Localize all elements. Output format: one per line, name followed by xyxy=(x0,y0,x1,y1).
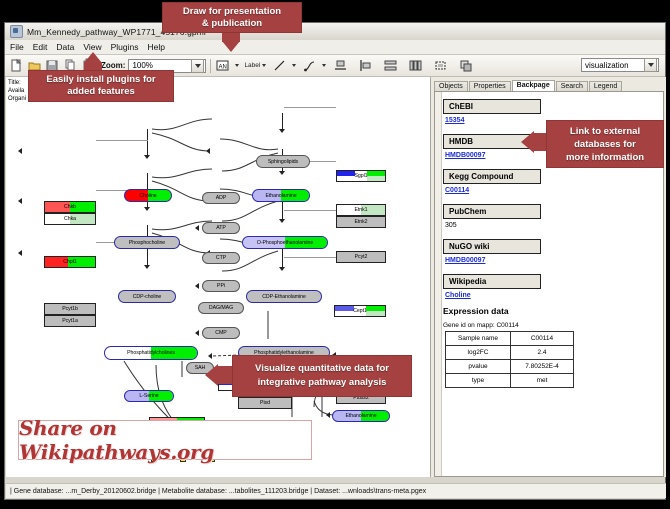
annotation-draw-line2: & publication xyxy=(202,18,262,30)
node-etnk2[interactable]: Etnk2 xyxy=(336,216,386,228)
db-header-chebi: ChEBI xyxy=(443,99,541,114)
annotation-visualize-line2: integrative pathway analysis xyxy=(258,376,387,390)
tab-properties[interactable]: Properties xyxy=(469,81,511,91)
node-chka[interactable]: Chka xyxy=(44,213,96,225)
node-ppi[interactable]: PPi xyxy=(202,280,240,292)
node-label: Pcyt2 xyxy=(355,254,368,260)
node-label: PPi xyxy=(217,283,225,289)
node-cdp-choline[interactable]: CDP-choline xyxy=(118,290,176,303)
node-label: O-Phosphoethanolamine xyxy=(257,240,313,246)
info-title-label: Title: xyxy=(8,79,26,87)
annotation-link-line1: Link to external xyxy=(570,125,640,138)
line-icon[interactable] xyxy=(272,58,287,73)
node-label: Etnk2 xyxy=(354,219,367,225)
annotation-link-line3: more information xyxy=(566,151,644,164)
node-label: Etnk1 xyxy=(354,207,367,213)
arrow-icon xyxy=(18,198,22,204)
node-chpt1[interactable]: Chpt1 xyxy=(44,256,96,268)
annotation-share: Share on Wikipathways.org xyxy=(18,420,312,460)
db-header-wikipedia: Wikipedia xyxy=(443,274,541,289)
title-bar: Mm_Kennedy_pathway_WP1771_45176.gpml xyxy=(5,23,665,41)
label-dropdown-label: Label xyxy=(244,62,260,69)
annotation-draw: Draw for presentation & publication xyxy=(162,2,302,33)
arrow-icon xyxy=(195,225,199,231)
zoom-label: Zoom: xyxy=(101,61,125,70)
annotation-link-arrow xyxy=(521,131,534,153)
chevron-down-icon[interactable] xyxy=(191,59,204,73)
node-sgpl1[interactable]: Sgpl1 xyxy=(336,170,386,182)
arrow-icon xyxy=(18,250,22,256)
node-ethanolamine-2[interactable]: Ethanolamine xyxy=(332,410,390,422)
arrow-icon xyxy=(195,330,199,336)
arrow-icon xyxy=(206,148,210,154)
db-header-nugo-wiki: NuGO wiki xyxy=(443,239,541,254)
arrow-icon xyxy=(326,412,330,418)
visualization-value: visualization xyxy=(585,61,629,70)
node-atp[interactable]: ATP xyxy=(202,222,240,234)
node-label: ATP xyxy=(216,225,226,231)
node-label: Chkb xyxy=(64,204,76,210)
node-label: Ethanolamine xyxy=(265,193,296,199)
visualization-combobox[interactable]: visualization xyxy=(581,58,659,72)
tab-legend[interactable]: Legend xyxy=(589,81,622,91)
menu-item-help[interactable]: Help xyxy=(148,42,165,52)
arrow-icon xyxy=(144,207,150,211)
annotation-plugins-line2: added features xyxy=(67,86,135,98)
expression-table: Sample name C00114 log2FC 2.4 pvalue 7.8… xyxy=(445,331,574,388)
node-label: Chpt1 xyxy=(63,259,77,265)
data-overlay-bottomright xyxy=(367,176,385,181)
connector-line xyxy=(284,107,336,108)
annotation-draw-arrow xyxy=(222,41,240,52)
node-label: Chka xyxy=(64,216,76,222)
annotation-share-text: Share on Wikipathways.org xyxy=(19,416,311,464)
node-sphingolipids[interactable]: Sphingolipids xyxy=(256,155,310,168)
toolbar-separator xyxy=(210,59,211,73)
order-icon[interactable] xyxy=(458,58,473,73)
table-row: pvalue 7.80252E-4 xyxy=(446,360,574,374)
arrow-icon xyxy=(279,171,285,175)
node-ethanolamine[interactable]: Ethanolamine xyxy=(252,189,310,202)
text-box-icon[interactable]: AN xyxy=(215,58,230,73)
node-label: CMP xyxy=(215,330,226,336)
node-label: Ethanolamine xyxy=(345,413,376,419)
data-overlay-topleft xyxy=(335,306,354,311)
annotation-plugins-arrow xyxy=(84,52,102,63)
menu-item-data[interactable]: Data xyxy=(56,42,74,52)
table-cell-key: Sample name xyxy=(446,332,511,346)
table-cell-value: 2.4 xyxy=(511,346,574,360)
node-choline-top[interactable]: Choline xyxy=(124,189,172,202)
node-pcyt1a[interactable]: Pcyt1a xyxy=(44,315,96,327)
panel-tabs: Objects Properties Backpage Search Legen… xyxy=(431,77,666,91)
connector-line xyxy=(96,140,148,141)
node-l-serine-1[interactable]: L-Serine xyxy=(124,390,174,402)
node-chkb[interactable]: Chkb xyxy=(44,201,96,213)
node-adp[interactable]: ADP xyxy=(202,192,240,204)
info-organism-label: Organi xyxy=(8,95,26,103)
node-pcyt2[interactable]: Pcyt2 xyxy=(336,251,386,263)
expression-data-heading: Expression data xyxy=(443,306,659,316)
node-label: SAH xyxy=(195,365,206,371)
data-overlay-topleft xyxy=(337,171,355,176)
info-availability-label: Availa xyxy=(8,87,26,95)
tab-search[interactable]: Search xyxy=(556,81,588,91)
arrow-icon xyxy=(279,219,285,223)
menu-item-file[interactable]: File xyxy=(10,42,24,52)
status-bar-text: | Gene database: ...m_Derby_20120602.bri… xyxy=(10,488,426,495)
arrow-icon xyxy=(144,265,150,269)
arrow-icon xyxy=(279,267,285,271)
pathway-info-block: Title: Availa Organi xyxy=(8,79,26,103)
table-row: log2FC 2.4 xyxy=(446,346,574,360)
menu-item-plugins[interactable]: Plugins xyxy=(111,42,139,52)
screenshot-root: Mm_Kennedy_pathway_WP1771_45176.gpml Fil… xyxy=(0,0,670,509)
node-o-phosphoethanolamine[interactable]: O-Phosphoethanolamine xyxy=(242,236,328,249)
tab-objects[interactable]: Objects xyxy=(434,81,468,91)
connector-line xyxy=(284,210,336,211)
node-label: Sgpl1 xyxy=(354,173,367,179)
new-file-icon[interactable] xyxy=(9,58,24,73)
align-left-icon[interactable] xyxy=(358,58,373,73)
db-value-pubchem: 305 xyxy=(445,222,659,229)
node-label: L-Serine xyxy=(139,393,158,399)
table-cell-key: log2FC xyxy=(446,346,511,360)
node-cept1[interactable]: Cept1 xyxy=(334,305,386,317)
node-phosphatidylcholines[interactable]: Phosphatidylcholines xyxy=(104,346,198,360)
db-link-kegg-compound[interactable]: C00114 xyxy=(445,187,659,194)
annotation-link-line2: databases for xyxy=(574,138,636,151)
menu-bar: File Edit Data View Plugins Help xyxy=(5,40,665,55)
data-overlay-bottomright xyxy=(366,311,385,316)
node-cdp-ethanolamine[interactable]: CDP-Ethanolamine xyxy=(246,290,322,303)
node-label: Pisd xyxy=(260,400,270,406)
node-label: Pcyt1b xyxy=(62,306,78,312)
table-row: Sample name C00114 xyxy=(446,332,574,346)
distribute-icon[interactable] xyxy=(408,58,423,73)
annotation-link: Link to external databases for more info… xyxy=(546,120,664,168)
tab-backpage[interactable]: Backpage xyxy=(512,80,555,91)
menu-item-view[interactable]: View xyxy=(83,42,101,52)
node-label: CTP xyxy=(216,255,226,261)
node-ctp[interactable]: CTP xyxy=(202,252,240,264)
arrow-icon xyxy=(144,155,150,159)
annotation-draw-line1: Draw for presentation xyxy=(183,6,281,18)
table-cell-value: 7.80252E-4 xyxy=(511,360,574,374)
node-etnk1[interactable]: Etnk1 xyxy=(336,204,386,216)
pathvisio-icon xyxy=(10,25,23,38)
gene-id-on-mapp: Gene id on mapp: C00114 xyxy=(443,322,659,329)
annotation-plugins-line1: Easily install plugins for xyxy=(46,74,155,86)
node-label: Phosphocholine xyxy=(129,240,165,246)
interaction-chevron-icon[interactable] xyxy=(322,64,326,67)
connector-line xyxy=(147,129,148,157)
menu-item-edit[interactable]: Edit xyxy=(33,42,48,52)
arrow-icon xyxy=(279,129,285,133)
connector-line xyxy=(284,257,336,258)
arrow-icon xyxy=(195,283,199,289)
table-cell-value: C00114 xyxy=(511,332,574,346)
node-pcyt1b[interactable]: Pcyt1b xyxy=(44,303,96,315)
table-cell-key: type xyxy=(446,374,511,388)
text-box-chevron-icon[interactable] xyxy=(235,64,239,67)
node-label: Sphingolipids xyxy=(268,159,298,165)
label-chevron-icon[interactable] xyxy=(262,64,266,67)
table-cell-key: pvalue xyxy=(446,360,511,374)
node-pisd[interactable]: Pisd xyxy=(238,397,292,409)
interaction-icon[interactable] xyxy=(302,58,317,73)
node-label: CDP-choline xyxy=(133,294,162,300)
table-row: type met xyxy=(446,374,574,388)
db-link-wikipedia[interactable]: Choline xyxy=(445,292,659,299)
zoom-value: 100% xyxy=(132,61,152,70)
db-link-nugo-wiki[interactable]: HMDB00097 xyxy=(445,257,659,264)
arrow-icon xyxy=(208,353,212,359)
node-label: Cept1 xyxy=(353,308,367,314)
annotation-plugins: Easily install plugins for added feature… xyxy=(28,70,174,102)
status-bar: | Gene database: ...m_Derby_20120602.bri… xyxy=(6,483,666,498)
db-header-kegg-compound: Kegg Compound xyxy=(443,169,541,184)
backpage-scrollbar[interactable] xyxy=(435,92,442,476)
annotation-visualize-line1: Visualize quantitative data for xyxy=(255,362,389,376)
node-label: ADP xyxy=(216,195,227,201)
align-bottom-icon[interactable] xyxy=(333,58,348,73)
arrow-icon xyxy=(18,148,22,154)
node-dag-mag[interactable]: DAG/MAG xyxy=(198,302,244,314)
annotation-visualize: Visualize quantitative data for integrat… xyxy=(232,355,412,397)
line-chevron-icon[interactable] xyxy=(292,64,296,67)
stack-vertical-icon[interactable] xyxy=(383,58,398,73)
visualization-chevron-icon[interactable] xyxy=(644,58,657,72)
node-label: DAG/MAG xyxy=(209,305,233,311)
svg-text:AN: AN xyxy=(219,65,227,71)
node-label: Choline xyxy=(139,193,156,199)
node-label: CDP-Ethanolamine xyxy=(262,294,306,300)
db-header-pubchem: PubChem xyxy=(443,204,541,219)
table-cell-value: met xyxy=(511,374,574,388)
group-icon[interactable] xyxy=(433,58,448,73)
node-label: Phosphatidylcholines xyxy=(127,350,175,356)
annotation-visualize-arrow xyxy=(205,364,218,386)
node-phosphocholine[interactable]: Phosphocholine xyxy=(114,236,180,249)
node-cmp[interactable]: CMP xyxy=(202,327,240,339)
node-label: Pcyt1a xyxy=(62,318,78,324)
